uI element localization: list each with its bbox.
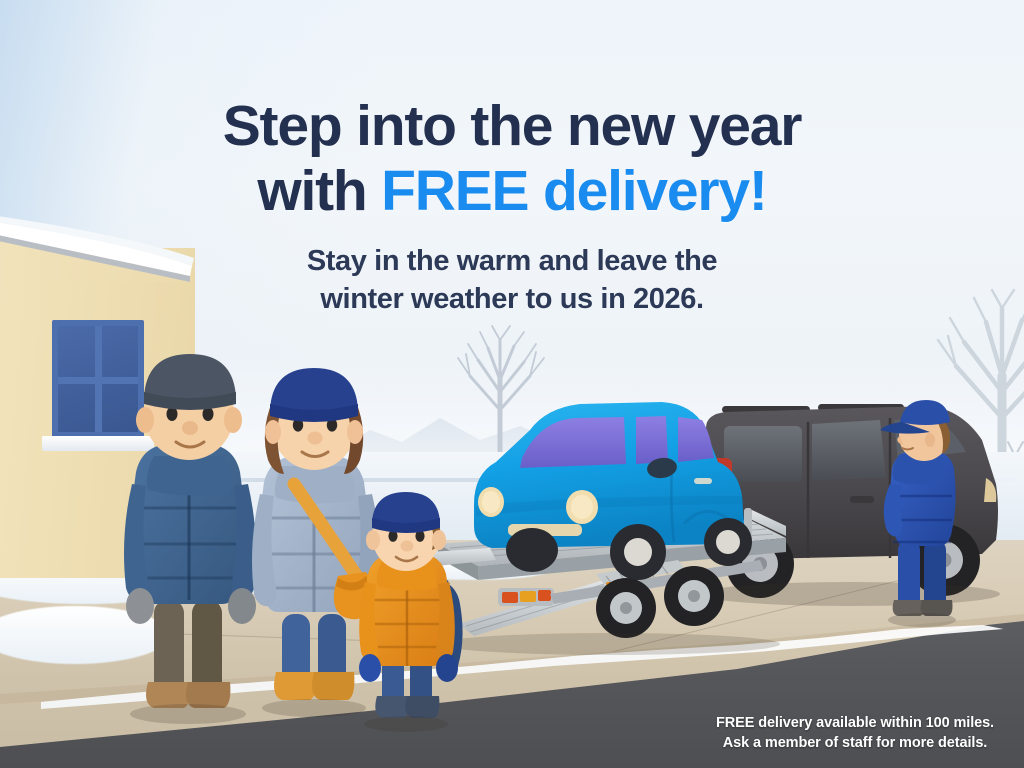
subheading-line-1: Stay in the warm and leave the (0, 243, 1024, 281)
fine-print-line-2: Ask a member of staff for more details. (716, 733, 994, 754)
fine-print: FREE delivery available within 100 miles… (716, 713, 994, 754)
fine-print-line-1: FREE delivery available within 100 miles… (716, 713, 994, 734)
promo-poster: Step into the new year with FREE deliver… (0, 0, 1024, 768)
subheading-line-2: winter weather to us in 2026. (0, 281, 1024, 319)
blue-car (466, 392, 766, 582)
headline-line-1: Step into the new year (223, 94, 802, 158)
family-child (352, 492, 482, 742)
headline-line-2: with FREE delivery! (0, 163, 1024, 220)
subheading: Stay in the warm and leave the winter we… (0, 243, 1024, 318)
headline: Step into the new year with FREE deliver… (0, 98, 1024, 220)
headline-free-accent: FREE delivery! (381, 159, 767, 223)
delivery-driver (872, 392, 972, 632)
headline-line-2-prefix: with (257, 159, 381, 223)
